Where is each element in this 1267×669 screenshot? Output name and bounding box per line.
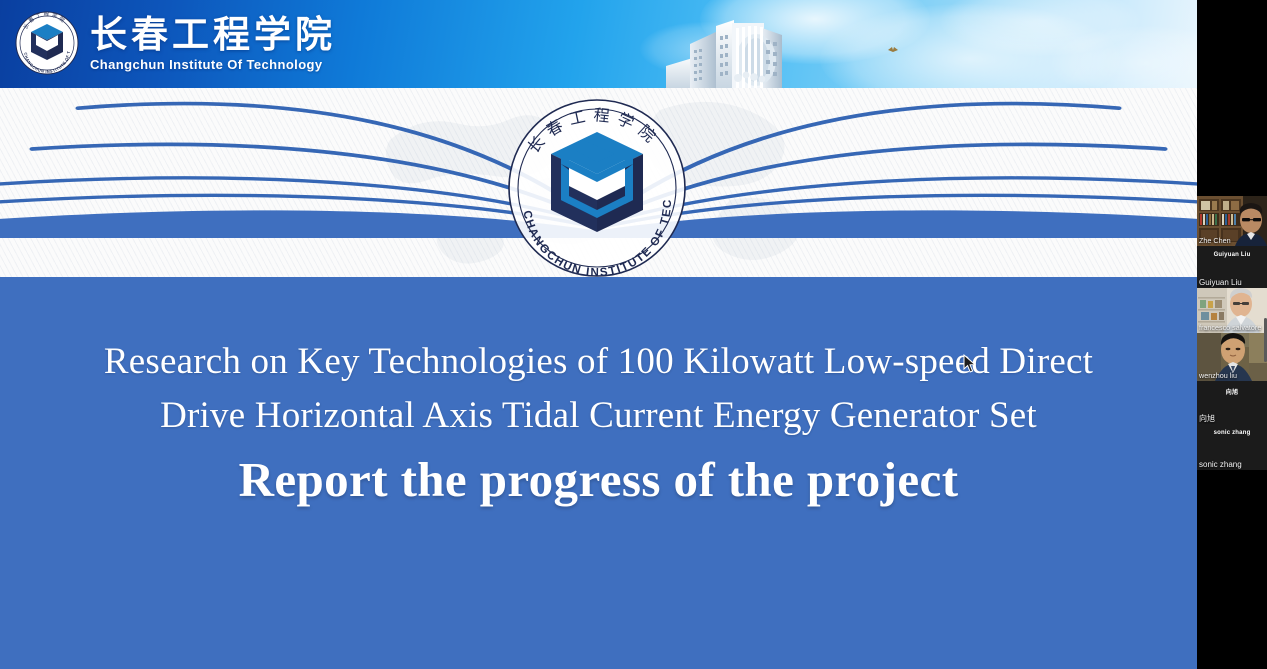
screen-share-window: CHANGCHUN INSTITUTE OF TECHNOLOGY 长春工程学院: [0, 0, 1267, 669]
header-emblem-icon: CHANGCHUN INSTITUTE OF TECHNOLOGY 长春工程学院: [14, 10, 80, 76]
participant-name: francesco salvatore: [1199, 323, 1261, 332]
participant-center-name: sonic zhang: [1197, 430, 1267, 436]
presentation-slide[interactable]: CHANGCHUN INSTITUTE OF TECHNOLOGY 长春工程学院: [0, 0, 1197, 669]
slide-title-block: Research on Key Technologies of 100 Kilo…: [0, 335, 1197, 517]
participant-center-name: Guiyuan Liu: [1197, 252, 1267, 258]
header-institution-mark: CHANGCHUN INSTITUTE OF TECHNOLOGY 长春工程学院…: [14, 10, 336, 76]
campus-building-photo: [660, 14, 860, 88]
participant-tile-xiangxu[interactable]: 向旭 向旭: [1197, 381, 1267, 424]
header-mark-english: Changchun Institute Of Technology: [90, 57, 336, 72]
participant-tile-francesco-salvatore[interactable]: francesco salvatore: [1197, 288, 1267, 333]
changchun-institute-emblem-icon: CHANGCHUN INSTITUTE OF TECHNOLOGY 长春工程学院: [497, 96, 697, 286]
participant-name: 向旭: [1199, 414, 1215, 423]
participant-tile-zhe-chen[interactable]: Zhe Chen: [1197, 196, 1267, 246]
participant-tile-sonic-zhang[interactable]: sonic zhang sonic zhang: [1197, 424, 1267, 470]
bird-icon: [888, 46, 898, 53]
participant-tile-wenzhou-liu[interactable]: wenzhou liu: [1197, 333, 1267, 381]
participant-name: sonic zhang: [1199, 460, 1242, 469]
participant-center-name: 向旭: [1197, 387, 1267, 396]
title-line-2: Drive Horizontal Axis Tidal Current Ener…: [0, 389, 1197, 443]
title-line-1: Research on Key Technologies of 100 Kilo…: [0, 335, 1197, 389]
participant-name: Guiyuan Liu: [1199, 278, 1242, 287]
header-mark-chinese: 长春工程学院: [90, 15, 336, 55]
participant-video-strip[interactable]: Zhe Chen Guiyuan Liu Guiyuan Liu: [1197, 0, 1267, 669]
participant-name: wenzhou liu: [1199, 371, 1237, 380]
mouse-pointer-icon: [963, 354, 977, 374]
slide-subtitle: Report the progress of the project: [0, 443, 1197, 517]
participant-name: Zhe Chen: [1199, 236, 1231, 245]
participant-tile-guiyuan-liu[interactable]: Guiyuan Liu Guiyuan Liu: [1197, 246, 1267, 288]
